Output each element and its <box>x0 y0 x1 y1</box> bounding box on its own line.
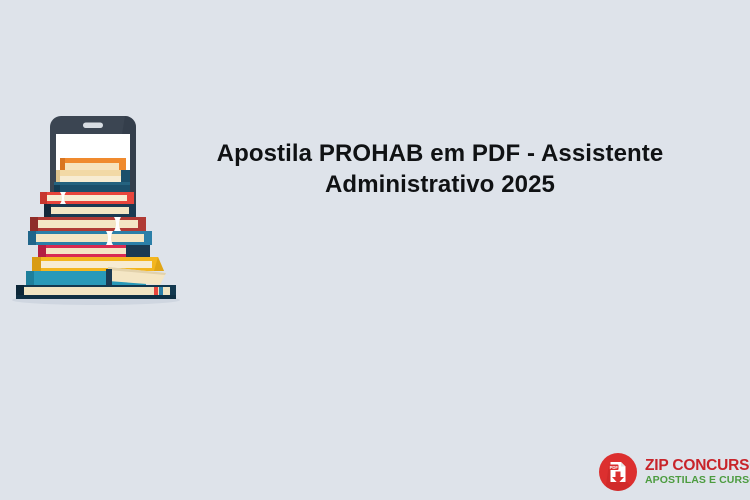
pdf-download-icon: PDF <box>598 452 638 492</box>
svg-text:PDF: PDF <box>610 465 619 470</box>
book-orange-top <box>60 158 126 170</box>
book-cream <box>56 170 130 182</box>
page-title: Apostila PROHAB em PDF - Assistente Admi… <box>150 138 730 200</box>
brand-text: ZIP CONCURSOS APOSTILAS E CURSOS <box>645 457 750 487</box>
book-navy-upper <box>54 182 130 192</box>
brand-tagline: APOSTILAS E CURSOS <box>645 474 750 487</box>
book-base <box>16 285 176 299</box>
book-darkred <box>30 217 146 231</box>
book-navy-dark <box>44 204 136 217</box>
brand-name: ZIP CONCURSOS <box>645 457 750 474</box>
brand-logo[interactable]: PDF ZIP CONCURSOS APOSTILAS E CURSOS <box>598 450 746 494</box>
book-blue <box>28 231 152 245</box>
books-illustration <box>8 112 183 312</box>
book-crimson <box>38 245 150 257</box>
book-red <box>40 192 134 204</box>
book-yellow <box>32 257 164 271</box>
